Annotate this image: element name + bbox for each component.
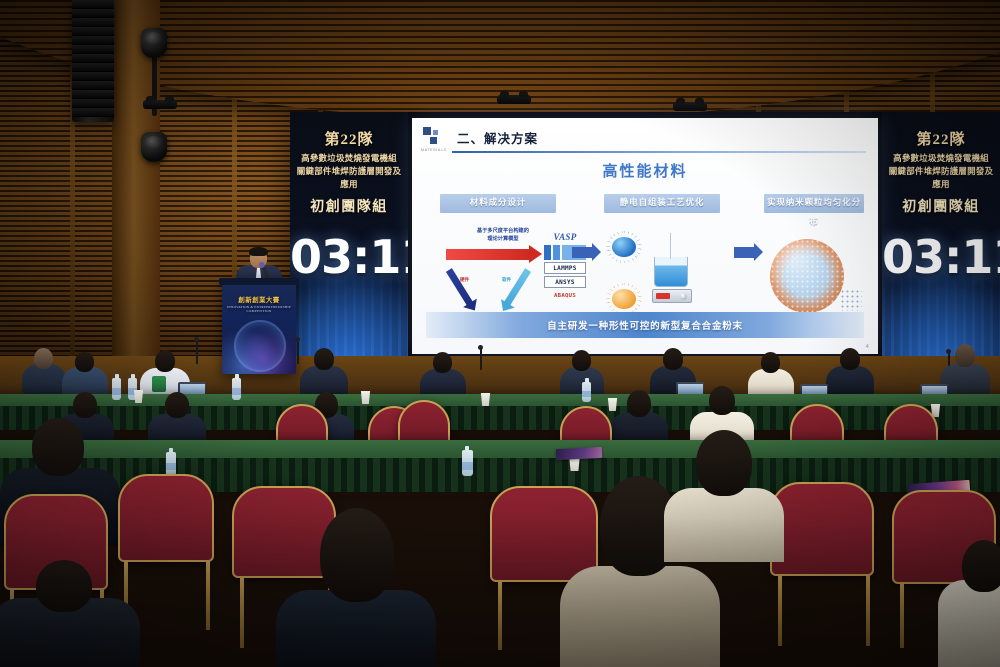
person-head	[955, 344, 975, 367]
water-bottle	[462, 450, 473, 476]
stage-2-pill: 静电自组装工艺优化	[604, 194, 720, 213]
stage-light	[141, 28, 167, 58]
ceiling-light-fixture	[497, 95, 531, 104]
audience-person	[300, 348, 348, 394]
vasp-logo: VASP	[544, 231, 586, 243]
slide-bottom-banner-text: 自主研发一种形性可控的新型复合合金粉末	[547, 318, 743, 332]
person-head	[32, 418, 84, 476]
water-bottle	[232, 378, 241, 400]
person-head	[840, 348, 860, 370]
stage-1-pill: 材料成分设计	[440, 194, 556, 213]
logo-caption: MATERIALS	[421, 148, 451, 152]
water-bottle	[166, 452, 176, 476]
particle-charge-spikes	[606, 283, 642, 315]
sphere-particle-dots	[770, 239, 844, 313]
left-project-title: 高參數垃圾焚燒發電機組 關鍵部件堆焊防護層開發及應用	[293, 152, 405, 190]
bottle-label	[232, 388, 241, 395]
stage-light	[141, 132, 167, 162]
chair-leg	[778, 574, 782, 646]
chair-leg	[900, 582, 904, 648]
audience-person-foreground	[276, 508, 436, 667]
table-microphone	[480, 348, 482, 370]
bottle-label	[166, 463, 176, 471]
flow-arrow-2-icon	[734, 247, 754, 258]
slide-bottom-banner: 自主研发一种形性可控的新型复合合金粉末	[426, 312, 864, 338]
slide-stage-1: 材料成分设计 基于多尺度平台构建的理论计算模型 硬件 软件 计算模拟研究平台 V…	[440, 194, 556, 331]
right-project-title-line1: 高參數垃圾焚燒發電機組	[885, 152, 997, 165]
banquet-chair	[770, 482, 874, 576]
left-team-number: 第22隊	[290, 128, 408, 149]
blue-diagonal-arrow-icon	[446, 268, 473, 306]
table-top	[0, 440, 1000, 458]
table-microphone	[196, 340, 198, 364]
right-team-number: 第22隊	[882, 128, 1000, 149]
speaker-podium: 創新創業大賽 INNOVATION & ENTREPRENEURSHIP COM…	[222, 278, 296, 374]
person-head	[962, 540, 1000, 592]
audience-person	[420, 352, 466, 396]
wall-light-fixture	[143, 100, 177, 109]
podium-top-surface	[219, 278, 299, 285]
chair-leg	[866, 574, 870, 646]
stage-1-top-label: 基于多尺度平台构建的理论计算模型	[466, 227, 540, 244]
audience-person	[22, 348, 66, 392]
flow-arrow-1-icon	[572, 247, 592, 258]
person-body	[826, 366, 874, 396]
bottle-label	[582, 391, 591, 397]
left-project-title-line1: 高參數垃圾焚燒發電機組	[293, 152, 405, 165]
slide-section-heading: 二、解决方案	[457, 128, 538, 147]
person-body	[938, 580, 1000, 667]
person-head	[572, 350, 591, 371]
person-head	[696, 430, 752, 496]
right-category-label: 初創團隊組	[882, 196, 1000, 216]
lattice-diagram-icon	[840, 289, 862, 311]
person-head	[155, 350, 175, 372]
person-head	[663, 348, 683, 370]
podium-brand-sub: INNOVATION & ENTREPRENEURSHIP COMPETITIO…	[226, 305, 292, 313]
person-head	[627, 390, 651, 417]
banquet-chair	[118, 474, 214, 562]
light-lens	[145, 136, 162, 148]
slide-main-title: 高性能材料	[412, 160, 878, 181]
coated-nanoparticle-sphere	[770, 239, 844, 313]
right-project-title-line2: 關鍵部件堆焊防護層開發及應用	[885, 165, 997, 191]
line-array-speaker	[72, 0, 114, 122]
slide-heading-rule	[452, 151, 866, 153]
person-head	[761, 352, 780, 373]
audience-person-foreground	[938, 540, 1000, 667]
cyan-diagonal-arrow-icon	[504, 268, 531, 306]
stirrer-knob	[680, 293, 687, 300]
beaker-icon	[654, 257, 688, 287]
person-head	[75, 352, 94, 372]
led-video-wall: 第22隊 高參數垃圾焚燒發電機組 關鍵部件堆焊防護層開發及應用 初創團隊組 03…	[290, 112, 1000, 360]
person-head	[34, 348, 53, 369]
audience-person	[610, 390, 668, 444]
left-category-label: 初創團隊組	[290, 196, 408, 216]
slide-stage-2: 静电自组装工艺优化	[604, 194, 720, 331]
stage-3-pill: 实现纳米颗粒均匀化分布	[764, 194, 864, 213]
person-body	[664, 488, 784, 562]
speaker-hair	[249, 247, 268, 256]
podium-body: 創新創業大賽 INNOVATION & ENTREPRENEURSHIP COM…	[222, 278, 296, 374]
audience-person	[148, 392, 206, 444]
left-countdown-timer: 03:11	[290, 230, 408, 284]
person-head	[320, 508, 394, 602]
chair-leg	[206, 560, 210, 630]
conference-hall-photo: 第22隊 高參數垃圾焚燒發電機組 關鍵部件堆焊防護層開發及應用 初創團隊組 03…	[0, 0, 1000, 667]
ceiling-light-fixture	[673, 102, 707, 111]
red-right-arrow-icon	[446, 249, 530, 260]
led-right-info-panel: 第22隊 高參數垃圾焚燒發電機組 關鍵部件堆焊防護層開發及應用 初創團隊組 03…	[882, 112, 1000, 360]
podium-ring-graphic	[234, 320, 286, 372]
stirring-rod	[670, 233, 671, 259]
name-badge-lanyard	[152, 376, 166, 392]
magnetic-stirrer-icon	[652, 289, 692, 303]
podium-brand-text: 創新創業大賽 INNOVATION & ENTREPRENEURSHIP COM…	[226, 294, 292, 313]
chair-leg	[498, 580, 502, 650]
right-countdown-timer: 03:11	[882, 230, 1000, 284]
particle-charge-spikes	[606, 231, 642, 263]
stirrer-display	[656, 293, 670, 299]
left-project-title-line2: 關鍵部件堆焊防護層開發及應用	[293, 165, 405, 191]
stage-1-arrow-label-left: 硬件	[460, 277, 469, 283]
person-body	[560, 566, 720, 667]
led-left-info-panel: 第22隊 高參數垃圾焚燒發電機組 關鍵部件堆焊防護層開發及應用 初創團隊組 03…	[290, 112, 408, 360]
lammps-logo: LAMMPS	[544, 262, 586, 274]
bottle-label	[462, 462, 473, 470]
stage-1-arrow-label-right: 软件	[502, 277, 511, 283]
blue-particle-icon	[612, 237, 636, 257]
audience-person	[664, 430, 784, 560]
person-head	[314, 348, 334, 370]
person-head	[709, 386, 735, 415]
abaqus-logo: ABAQUS	[544, 290, 586, 302]
audience-person	[748, 352, 794, 396]
person-head	[36, 560, 92, 612]
right-project-title: 高參數垃圾焚燒發電機組 關鍵部件堆焊防護層開發及應用	[885, 152, 997, 190]
podium-brand-line: 創新創業大賽	[238, 297, 279, 304]
orange-particle-icon	[612, 289, 636, 309]
water-bottle	[582, 382, 591, 402]
table-microphone	[297, 340, 299, 364]
ansys-logo: ANSYS	[544, 276, 586, 288]
slide-stage-3: 实现纳米颗粒均匀化分布	[764, 194, 864, 331]
person-head	[165, 392, 189, 418]
person-head	[433, 352, 452, 373]
light-lens	[145, 32, 162, 44]
person-head	[73, 392, 97, 418]
software-logo-stack: VASP LAMMPS ANSYS ABAQUS	[544, 231, 586, 304]
audience-person-foreground	[0, 560, 140, 667]
company-logo-icon: MATERIALS	[421, 127, 447, 149]
audience-person	[62, 352, 108, 394]
audience-person	[826, 348, 874, 394]
chair-leg	[240, 576, 244, 648]
presentation-slide: MATERIALS 二、解决方案 高性能材料 材料成分设计 基于多尺度平台构建的…	[412, 118, 878, 354]
